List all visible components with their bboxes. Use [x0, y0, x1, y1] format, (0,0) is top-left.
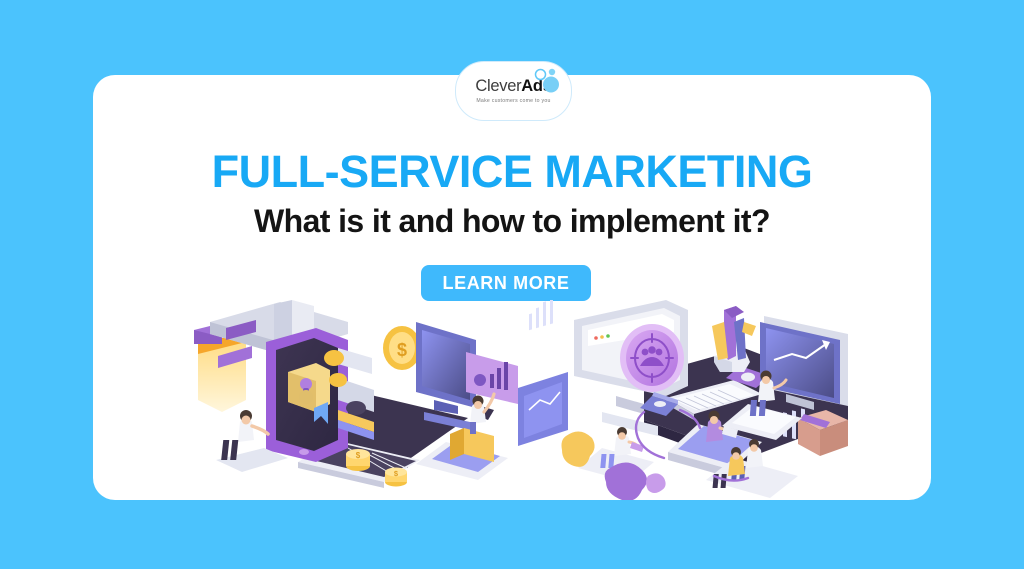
mobile-marketing-isometric-illustration: $: [188, 300, 568, 500]
illustration-row: $: [93, 300, 931, 500]
bubbles-icon: [532, 68, 560, 94]
page-title: FULL-SERVICE MARKETING: [0, 148, 1024, 195]
audience-target-icon: [620, 324, 684, 392]
page-subtitle: What is it and how to implement it?: [0, 204, 1024, 239]
brand-name-first: Clever: [475, 77, 521, 95]
brand-logo-badge[interactable]: CleverAds Make customers come to you: [455, 61, 572, 121]
brand-tagline: Make customers come to you: [476, 98, 550, 104]
svg-text:$: $: [397, 340, 407, 360]
pen-holder: [712, 306, 756, 372]
svg-text:$: $: [356, 451, 361, 460]
side-panels: [338, 348, 374, 440]
workspace-analytics-isometric-illustration: [548, 300, 878, 500]
package-box: [798, 410, 848, 456]
dollar-coin: $: [383, 326, 421, 370]
learn-more-button[interactable]: LEARN MORE: [421, 265, 591, 301]
smartphone: [266, 328, 348, 462]
